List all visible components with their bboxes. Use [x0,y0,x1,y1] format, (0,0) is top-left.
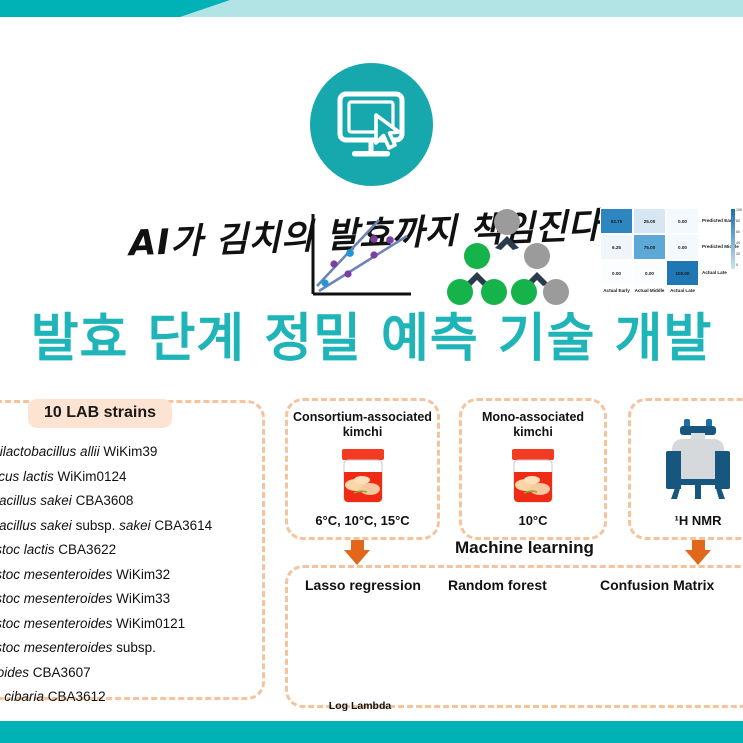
list-item: tococcus lactis WiKim0124 [0,465,276,490]
list-item: conostoc mesenteroides subsp. [0,636,276,661]
consortium-heading-line2: kimchi [343,425,383,439]
cm-cell: 0.00 [633,260,666,286]
list-item: enteroides CBA3607 [0,661,276,686]
cm-col-label: Actual Early [600,288,633,293]
cm-tick: 60 [736,230,740,234]
nmr-caption: ¹H NMR [631,513,743,528]
strains-list: mpanilactobacillus allii WiKim39 tococcu… [0,440,276,710]
machine-learning-label: Machine learning [455,538,594,558]
cm-cell: 0.00 [666,234,699,260]
list-item: conostoc mesenteroides WiKim33 [0,587,276,612]
mono-kimchi-panel: Mono-associated kimchi 10°C [459,398,607,540]
mono-heading-line1: Mono-associated [482,410,584,424]
confusion-matrix-chart: 93.75 25.00 0.00 6.25 75.00 0.00 0.00 0.… [600,208,740,308]
confusion-matrix-grid: 93.75 25.00 0.00 6.25 75.00 0.00 0.00 0.… [600,208,699,286]
cm-cell: 75.00 [633,234,666,260]
cm-cell: 93.75 [600,208,633,234]
nmr-panel: ¹H NMR [628,398,743,540]
cm-tick: 100 [736,208,742,212]
bottom-teal-bar [0,721,743,743]
cm-tick: 0 [736,263,738,267]
confusion-matrix-title: Confusion Matrix [600,577,714,593]
lasso-x-axis-label: Log Lambda [305,700,415,712]
list-item: actobacillus sakei subsp. sakei CBA3614 [0,514,276,539]
list-item: ssella cibaria CBA3612 [0,685,276,710]
consortium-panel-heading: Consortium-associated kimchi [288,410,437,440]
strains-chip: 10 LAB strains [28,399,172,428]
list-item: conostoc mesenteroides WiKim0121 [0,612,276,637]
cm-colorbar [731,209,735,269]
list-item: mpanilactobacillus allii WiKim39 [0,440,276,465]
cm-cell: 25.00 [633,208,666,234]
kimchi-jar-icon [502,445,564,512]
mono-heading-line2: kimchi [513,425,553,439]
cm-tick: 40 [736,241,740,245]
kimchi-jar-icon [332,445,394,512]
cm-col-label: Actual Middle [633,288,666,293]
cm-cell: 6.25 [600,234,633,260]
lasso-regression-title: Lasso regression [305,577,421,593]
top-banner [0,0,743,17]
nmr-spectrometer-icon [662,417,734,506]
cm-row-label: Actual Late [702,270,727,275]
consortium-kimchi-panel: Consortium-associated kimchi 6°C, 10°C, … [285,398,440,540]
mono-temperature-caption: 10°C [462,513,604,528]
random-forest-title: Random forest [448,577,547,593]
cm-cell: 100.00 [666,260,699,286]
cm-tick: 80 [736,219,740,223]
random-forest-tree-icon [443,208,575,308]
consortium-temperature-caption: 6°C, 10°C, 15°C [288,513,437,528]
cm-cell: 0.00 [600,260,633,286]
list-item: actobacillus sakei CBA3608 [0,489,276,514]
consortium-heading-line1: Consortium-associated [293,410,432,424]
cm-col-label: Actual Late [666,288,699,293]
cm-tick: 20 [736,252,740,256]
lasso-regression-chart [305,210,415,305]
monitor-cursor-icon [310,63,433,186]
mono-panel-heading: Mono-associated kimchi [462,410,604,440]
cm-cell: 0.00 [666,208,699,234]
list-item: conostoc lactis CBA3622 [0,538,276,563]
list-item: conostoc mesenteroides WiKim32 [0,563,276,588]
